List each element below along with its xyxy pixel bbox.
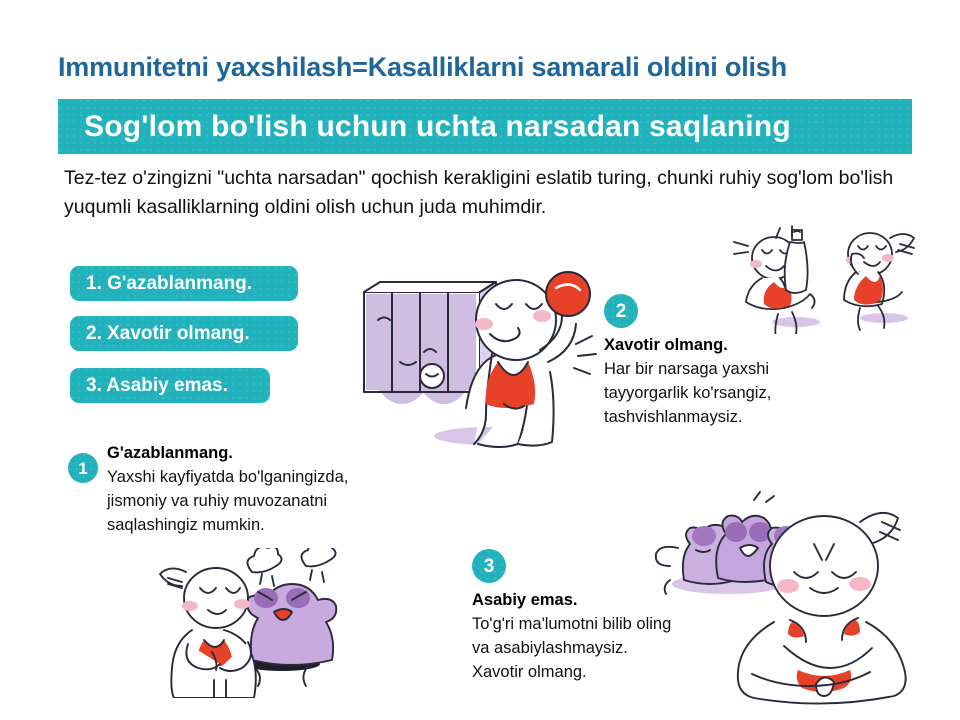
pill-label: 3. Asabiy emas.: [86, 375, 228, 397]
pill-label: 1. G'azablanmang.: [86, 273, 252, 295]
list-item-avoid-worry[interactable]: 2. Xavotir olmang.: [70, 316, 298, 351]
callout-body: G'azablanmang. Yaxshi kayfiyatda bo'lgan…: [107, 444, 348, 537]
page-title: Immunitetni yaxshilash=Kasalliklarni sam…: [58, 52, 918, 83]
subtitle-band: Sog'lom bo'lish uchun uchta narsadan saq…: [58, 99, 912, 154]
callout-text: To'g'ri ma'lumotni bilib oling va asabiy…: [472, 612, 671, 684]
talking-worry-illustration: [718, 222, 950, 334]
callout-text: Har bir narsaga yaxshi tayyorgarlik ko'r…: [604, 357, 771, 429]
callout-text: Yaxshi kayfiyatda bo'lganingizda, jismon…: [107, 465, 348, 537]
callout-line: saqlashingiz mumkin.: [107, 513, 348, 537]
callout-line: Xavotir olmang.: [472, 660, 671, 684]
callout-heading: G'azablanmang.: [107, 444, 348, 463]
callout-heading: Xavotir olmang.: [604, 336, 771, 355]
callout-line: To'g'ri ma'lumotni bilib oling: [472, 612, 671, 636]
callout-line: tashvishlanmaysiz.: [604, 405, 771, 429]
intro-paragraph: Tez-tez o'zingizni "uchta narsadan" qoch…: [64, 164, 909, 222]
list-item-avoid-nervousness[interactable]: 3. Asabiy emas.: [70, 368, 270, 403]
callout-body: Asabiy emas. To'g'ri ma'lumotni bilib ol…: [472, 591, 671, 684]
number-badge-3: 3: [472, 549, 506, 583]
slide-canvas: Immunitetni yaxshilash=Kasalliklarni sam…: [0, 0, 960, 720]
meditation-illustration: [648, 488, 948, 706]
callout-line: va asabiylashmaysiz.: [472, 636, 671, 660]
callout-heading: Asabiy emas.: [472, 591, 671, 610]
pill-label: 2. Xavotir olmang.: [86, 323, 250, 345]
callout-line: Har bir narsaga yaxshi: [604, 357, 771, 381]
callout-body: Xavotir olmang. Har bir narsaga yaxshi t…: [604, 336, 771, 429]
list-item-avoid-anger[interactable]: 1. G'azablanmang.: [70, 266, 298, 301]
calm-vs-anger-illustration: [148, 548, 388, 698]
number-badge-2: 2: [604, 294, 638, 328]
subtitle-text: Sog'lom bo'lish uchun uchta narsadan saq…: [58, 110, 791, 144]
locker-anger-illustration: [340, 258, 602, 458]
callout-line: tayyorgarlik ko'rsangiz,: [604, 381, 771, 405]
number-badge-1: 1: [68, 453, 98, 483]
intro-line-1: Tez-tez o'zingizni "uchta narsadan" qoch…: [64, 167, 714, 189]
callout-line: Yaxshi kayfiyatda bo'lganingizda,: [107, 465, 348, 489]
callout-line: jismoniy va ruhiy muvozanatni: [107, 489, 348, 513]
